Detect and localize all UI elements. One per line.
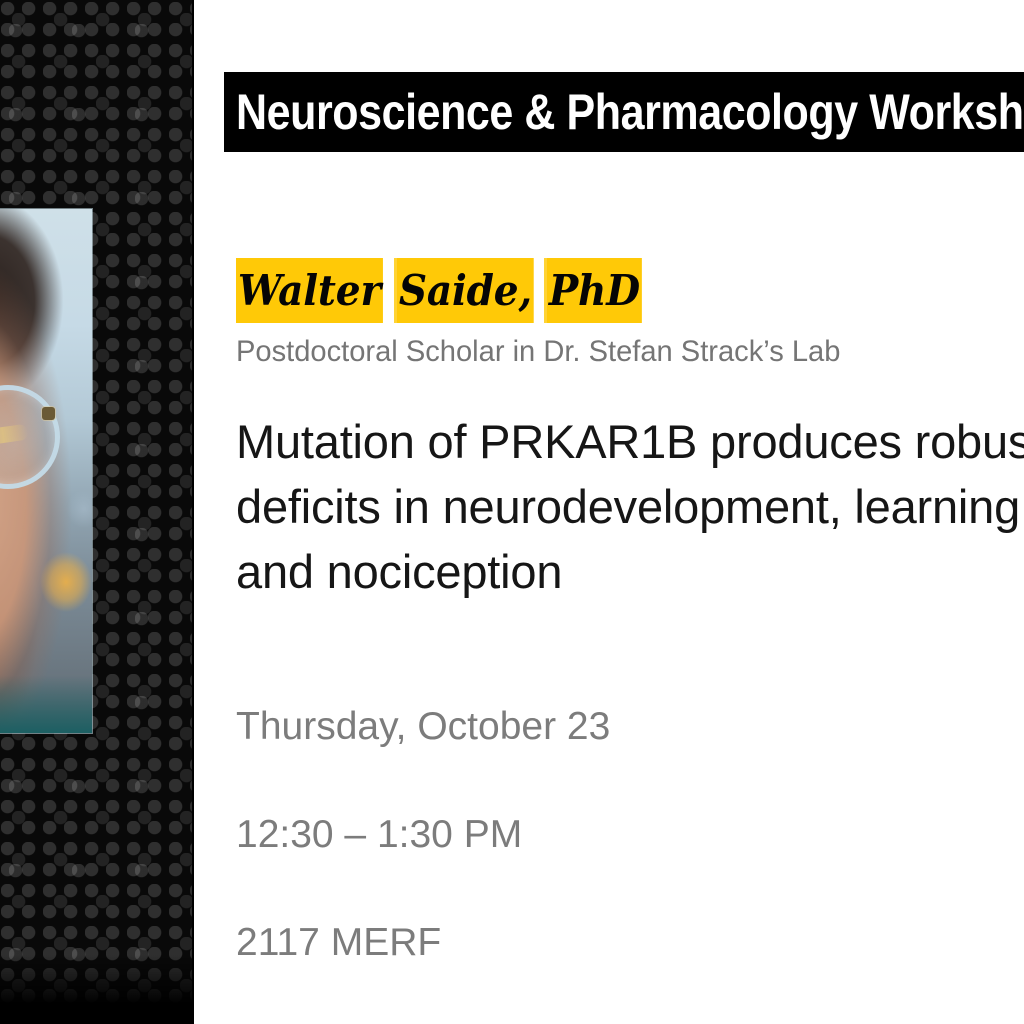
speaker-name-word-2: Saide, (397, 258, 534, 323)
event-details: Thursday, October 23 12:30 – 1:30 PM 211… (236, 646, 1024, 1024)
speaker-name-highlight: WalterSaide,PhD (236, 258, 1024, 323)
speaker-name-word-1: Walter (236, 258, 383, 323)
poster-content: WalterSaide,PhD Postdoctoral Scholar in … (236, 258, 1024, 1024)
talk-title: Mutation of PRKAR1B produces robust defi… (236, 409, 1024, 604)
speaker-photo-image (0, 209, 92, 733)
eyeglass-hinge (42, 407, 55, 420)
panel-right-edge (192, 0, 194, 1024)
eyeglasses-detail (0, 377, 62, 489)
speaker-name-word-3: PhD (547, 258, 642, 323)
event-location: 2117 MERF (236, 916, 1024, 970)
panel-bottom-fade (0, 955, 194, 1024)
event-time: 12:30 – 1:30 PM (236, 808, 1024, 862)
left-decorative-panel (0, 0, 194, 1024)
workshop-header-bar: Neuroscience & Pharmacology Workshop (224, 72, 1024, 152)
event-date: Thursday, October 23 (236, 700, 1024, 754)
speaker-photo (0, 209, 92, 733)
seminar-poster: Neuroscience & Pharmacology Workshop Wal… (0, 0, 1024, 1024)
speaker-affiliation: Postdoctoral Scholar in Dr. Stefan Strac… (236, 333, 1024, 371)
workshop-title: Neuroscience & Pharmacology Workshop (224, 86, 1024, 138)
